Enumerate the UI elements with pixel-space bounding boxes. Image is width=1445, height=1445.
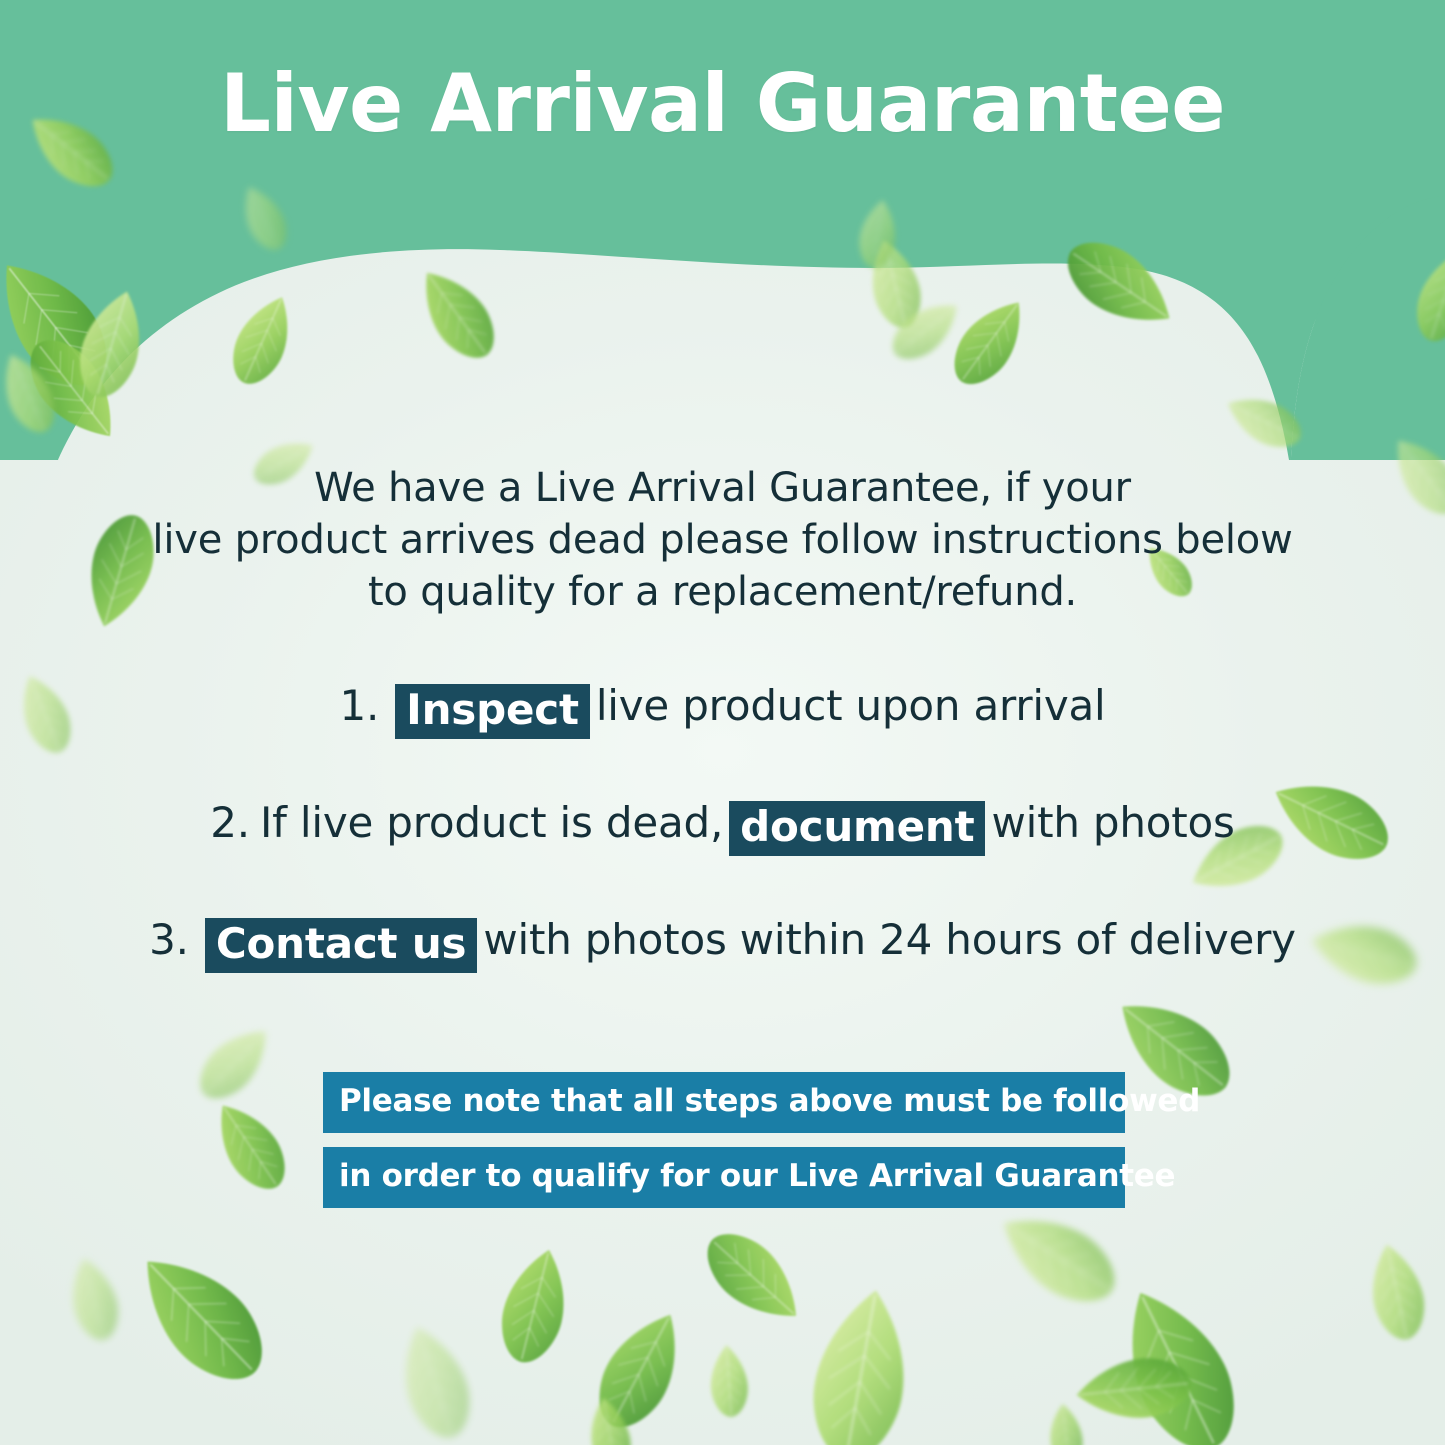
step-highlight-inspect: Inspect (395, 684, 590, 739)
step-text: with photos (991, 798, 1234, 847)
note-line: in order to qualify for our Live Arrival… (323, 1147, 1125, 1208)
step-highlight-document: document (729, 801, 985, 856)
list-item: 2.If live product is dead,documentwith p… (0, 797, 1445, 852)
step-number: 3. (149, 915, 189, 964)
content-area: We have a Live Arrival Guarantee, if you… (0, 0, 1445, 1445)
steps-list: 1.Inspectlive product upon arrival 2.If … (0, 680, 1445, 1031)
step-text: with photos within 24 hours of delivery (483, 915, 1296, 964)
step-text-before: If live product is dead, (260, 798, 723, 847)
step-number: 2. (210, 798, 250, 847)
list-item: 1.Inspectlive product upon arrival (0, 680, 1445, 735)
intro-line: We have a Live Arrival Guarantee, if you… (0, 462, 1445, 514)
list-item: 3.Contact uswith photos within 24 hours … (0, 914, 1445, 969)
live-arrival-guarantee-poster: Live Arrival Guarantee We have a Live Ar… (0, 0, 1445, 1445)
intro-line: to quality for a replacement/refund. (0, 566, 1445, 618)
step-text: live product upon arrival (596, 681, 1106, 730)
step-highlight-contact-us: Contact us (205, 918, 478, 973)
note-banner: Please note that all steps above must be… (323, 1072, 1125, 1208)
note-line: Please note that all steps above must be… (323, 1072, 1125, 1133)
intro-paragraph: We have a Live Arrival Guarantee, if you… (0, 462, 1445, 618)
step-number: 1. (339, 681, 379, 730)
intro-line: live product arrives dead please follow … (0, 514, 1445, 566)
